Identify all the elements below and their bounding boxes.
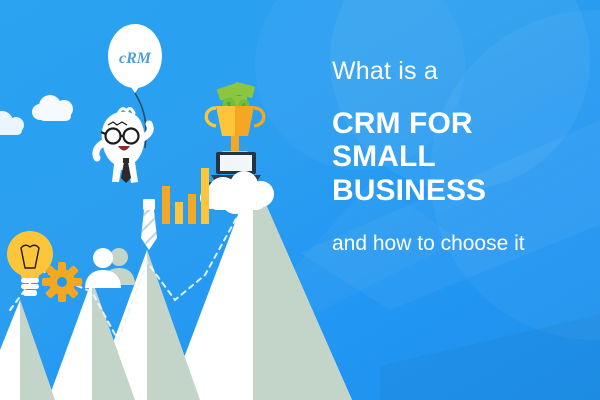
cloud-left xyxy=(28,92,88,124)
headline-line-1: CRM FOR xyxy=(332,107,600,141)
businessman-character xyxy=(88,100,168,195)
trophy-handle-right xyxy=(254,108,264,126)
necktie-icon xyxy=(135,198,163,256)
balloon-knot xyxy=(131,87,139,93)
cloud-edge xyxy=(0,108,32,138)
headline-line-2: SMALL xyxy=(332,140,600,174)
tagline-text: and how to choose it xyxy=(332,232,600,255)
bar-4 xyxy=(201,168,209,224)
laptop-screen xyxy=(220,155,252,171)
gear-icon xyxy=(42,262,82,302)
kicker-text: What is a xyxy=(332,58,600,86)
mountain-peak-tiny-shade xyxy=(20,300,55,400)
trophy-stem xyxy=(231,136,239,152)
glasses-icon xyxy=(101,129,139,144)
bar-3 xyxy=(188,194,196,224)
crm-banner: cRM $ xyxy=(0,0,600,400)
headline: CRM FOR SMALL BUSINESS xyxy=(332,107,600,208)
bar-chart xyxy=(160,168,216,224)
people-icon xyxy=(84,243,138,289)
trophy-cup-shade xyxy=(235,106,254,136)
gear-hole xyxy=(57,277,67,287)
headline-line-3: BUSINESS xyxy=(332,174,600,208)
copy-block: What is a CRM FOR SMALL BUSINESS and how… xyxy=(332,58,600,255)
character-arm-left xyxy=(96,142,105,158)
bar-1 xyxy=(162,186,170,224)
trophy-handle-left xyxy=(206,108,216,126)
bar-2 xyxy=(175,202,183,224)
character-collar xyxy=(123,158,129,163)
necktie-knot xyxy=(143,199,155,210)
balloon-label: cRM xyxy=(119,50,152,67)
bulb-base xyxy=(21,278,39,296)
